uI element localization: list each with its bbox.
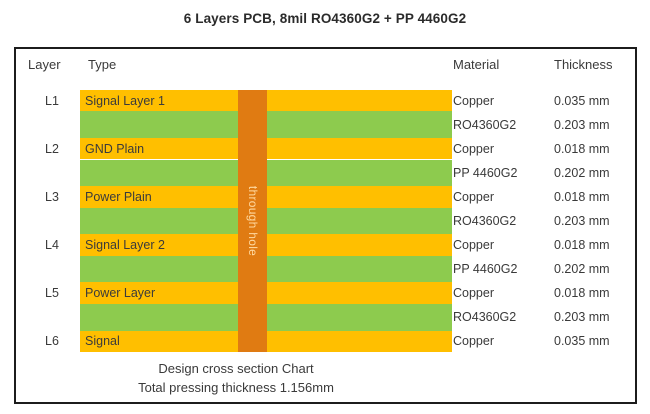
material-value: Copper <box>453 190 494 204</box>
material-value: Copper <box>453 142 494 156</box>
thickness-value: 0.202 mm <box>554 262 610 276</box>
material-value: Copper <box>453 238 494 252</box>
page-title: 6 Layers PCB, 8mil RO4360G2 + PP 4460G2 <box>0 11 650 26</box>
layer-id-l3: L3 <box>30 190 74 204</box>
band-type-label: Signal <box>85 335 120 348</box>
band-type-label: Signal Layer 1 <box>85 94 165 107</box>
material-value: Copper <box>453 334 494 348</box>
thickness-value: 0.203 mm <box>554 310 610 324</box>
thickness-value: 0.035 mm <box>554 94 610 108</box>
material-value: RO4360G2 <box>453 118 516 132</box>
thickness-value: 0.203 mm <box>554 214 610 228</box>
layer-id-l2: L2 <box>30 142 74 156</box>
band-type-label: Power Layer <box>85 287 155 300</box>
column-header-type: Type <box>88 57 116 72</box>
thickness-value: 0.202 mm <box>554 166 610 180</box>
layer-stack: Signal Layer 1GND PlainPower PlainSignal… <box>16 90 635 352</box>
thickness-value: 0.018 mm <box>554 142 610 156</box>
thickness-value: 0.018 mm <box>554 190 610 204</box>
column-header-layer: Layer <box>28 57 61 72</box>
band-type-label: Signal Layer 2 <box>85 239 165 252</box>
band-type-label: GND Plain <box>85 143 144 156</box>
layer-id-l4: L4 <box>30 238 74 252</box>
footer-line-design: Design cross section Chart <box>16 359 456 378</box>
material-value: Copper <box>453 286 494 300</box>
stackup-frame: Layer Type Material Thickness Signal Lay… <box>14 47 637 404</box>
thickness-value: 0.018 mm <box>554 238 610 252</box>
layer-id-l6: L6 <box>30 334 74 348</box>
material-value: PP 4460G2 <box>453 262 517 276</box>
column-header-thickness: Thickness <box>554 57 613 72</box>
band-type-label: Power Plain <box>85 191 152 204</box>
material-value: RO4360G2 <box>453 310 516 324</box>
through-hole-label: through hole <box>246 186 260 256</box>
thickness-value: 0.018 mm <box>554 286 610 300</box>
footer: Design cross section Chart Total pressin… <box>16 359 456 397</box>
material-value: Copper <box>453 94 494 108</box>
through-hole-column: through hole <box>238 90 267 352</box>
layer-id-l5: L5 <box>30 286 74 300</box>
column-header-material: Material <box>453 57 499 72</box>
thickness-value: 0.203 mm <box>554 118 610 132</box>
footer-line-total-thickness: Total pressing thickness 1.156mm <box>16 378 456 397</box>
layer-id-l1: L1 <box>30 94 74 108</box>
material-value: RO4360G2 <box>453 214 516 228</box>
thickness-value: 0.035 mm <box>554 334 610 348</box>
material-value: PP 4460G2 <box>453 166 517 180</box>
